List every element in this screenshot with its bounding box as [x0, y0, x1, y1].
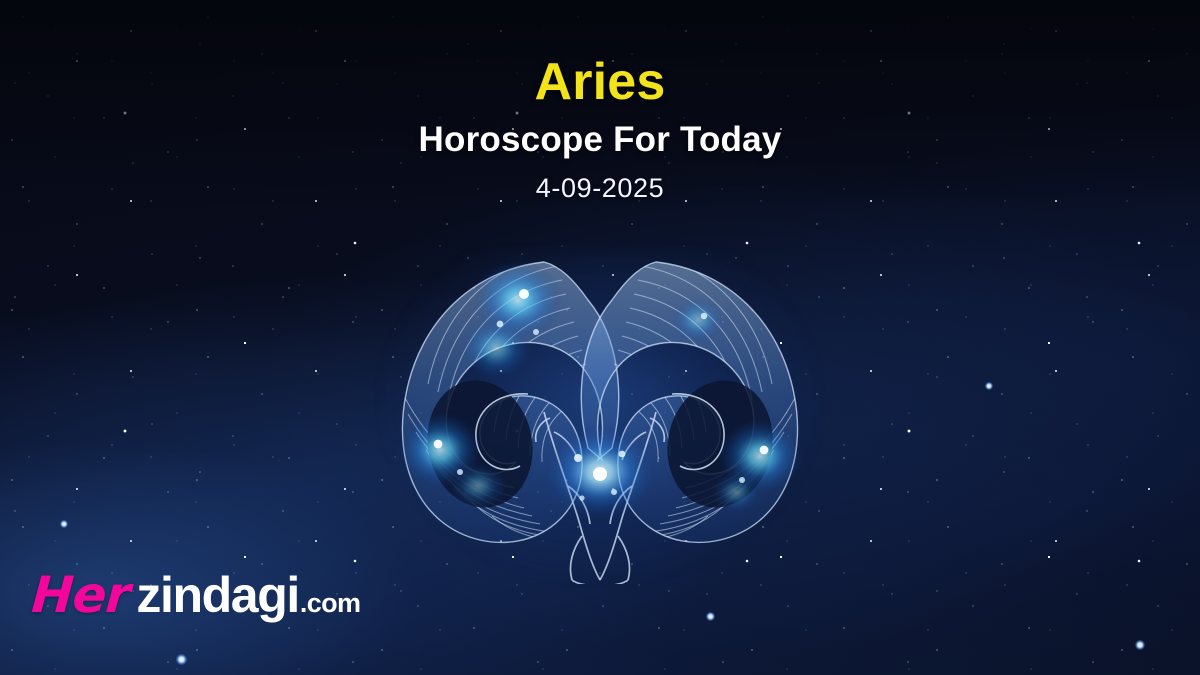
bright-star-glow — [985, 382, 993, 390]
page-subtitle: Horoscope For Today — [0, 122, 1200, 157]
bright-star-glow — [60, 520, 68, 528]
bright-star-glow — [1135, 640, 1145, 650]
horoscope-date: 4-09-2025 — [0, 175, 1200, 202]
bright-star-glow — [176, 654, 187, 665]
headline-block: Aries Horoscope For Today 4-09-2025 — [0, 56, 1200, 202]
logo-zindagi-text: zindagi — [136, 566, 298, 624]
ram-head-illustration — [368, 236, 832, 584]
logo-her-text: Her — [30, 566, 131, 624]
bright-star-glow — [706, 612, 715, 621]
aries-ram-artwork — [368, 236, 832, 584]
zodiac-sign-title: Aries — [0, 56, 1200, 108]
horoscope-banner: Aries Horoscope For Today 4-09-2025 Her … — [0, 0, 1200, 675]
herzindagi-logo[interactable]: Her zindagi .com — [32, 566, 360, 628]
logo-tld-text: .com — [300, 588, 361, 619]
